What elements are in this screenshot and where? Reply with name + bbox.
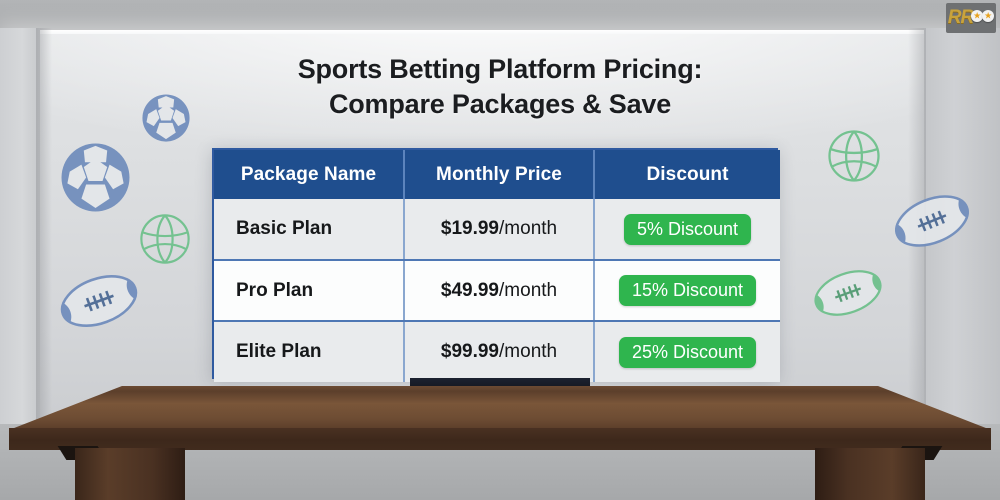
table-row: Elite Plan $99.99/month 25% Discount <box>214 321 780 382</box>
column-header-monthly-price: Monthly Price <box>404 150 594 199</box>
desk-leg-left <box>75 448 185 500</box>
price-amount: $49.99 <box>441 280 499 301</box>
pricing-table: Package Name Monthly Price Discount Basi… <box>214 150 780 382</box>
desk-edge <box>9 428 991 450</box>
table-row: Basic Plan $19.99/month 5% Discount <box>214 199 780 260</box>
cell-monthly-price: $49.99/month <box>404 260 594 321</box>
status-badge: 15% Discount <box>619 275 756 306</box>
cell-monthly-price: $19.99/month <box>404 199 594 260</box>
page-title: Sports Betting Platform Pricing: Compare… <box>0 52 1000 121</box>
title-line-2: Compare Packages & Save <box>0 87 1000 122</box>
price-amount: $99.99 <box>441 341 499 362</box>
soccer-ball-icon <box>58 140 133 215</box>
basketball-icon <box>826 128 882 184</box>
logo-text-99 <box>972 9 994 27</box>
logo-text-rr: RR <box>948 7 973 29</box>
desk-leg-right <box>815 448 925 500</box>
cell-discount: 5% Discount <box>594 199 780 260</box>
cell-discount: 15% Discount <box>594 260 780 321</box>
status-badge: 5% Discount <box>624 214 751 245</box>
price-period: /month <box>499 341 557 362</box>
column-header-package-name: Package Name <box>214 150 404 199</box>
ceiling <box>0 0 1000 34</box>
cell-monthly-price: $99.99/month <box>404 321 594 382</box>
pricing-table-screen: Package Name Monthly Price Discount Basi… <box>212 148 778 379</box>
cell-package-name: Pro Plan <box>214 260 404 321</box>
desk-surface <box>9 386 991 430</box>
table-header-row: Package Name Monthly Price Discount <box>214 150 780 199</box>
price-period: /month <box>499 280 557 301</box>
conference-desk <box>0 378 1000 500</box>
cell-package-name: Elite Plan <box>214 321 404 382</box>
status-badge: 25% Discount <box>619 337 756 368</box>
basketball-icon <box>138 212 192 266</box>
cell-discount: 25% Discount <box>594 321 780 382</box>
table-row: Pro Plan $49.99/month 15% Discount <box>214 260 780 321</box>
column-header-discount: Discount <box>594 150 780 199</box>
logo-star-icon <box>982 10 994 22</box>
title-line-1: Sports Betting Platform Pricing: <box>298 54 703 84</box>
price-period: /month <box>499 218 557 239</box>
rr99-logo: RR <box>946 3 996 33</box>
cell-package-name: Basic Plan <box>214 199 404 260</box>
price-amount: $19.99 <box>441 218 499 239</box>
room-scene: Sports Betting Platform Pricing: Compare… <box>0 0 1000 500</box>
